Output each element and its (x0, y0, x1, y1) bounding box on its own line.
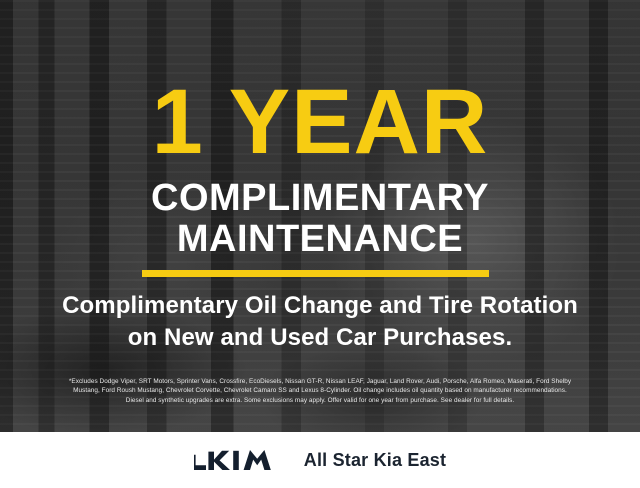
offer-description: Complimentary Oil Change and Tire Rotati… (0, 290, 640, 354)
offer-line-2: on New and Used Car Purchases. (0, 322, 640, 354)
dealer-name: All Star Kia East (304, 450, 446, 471)
disclaimer-line-3: Diesel and synthetic upgrades are extra.… (12, 396, 628, 405)
kia-logo (194, 449, 282, 471)
yellow-divider-bar (142, 270, 489, 277)
legal-disclaimer: *Excludes Dodge Viper, SRT Motors, Sprin… (12, 377, 628, 405)
headline-line-complimentary: COMPLIMENTARY (0, 178, 640, 219)
offer-line-1: Complimentary Oil Change and Tire Rotati… (0, 290, 640, 322)
disclaimer-line-2: Mustang, Ford Roush Mustang, Chevrolet C… (12, 386, 628, 395)
headline-line-maintenance: MAINTENANCE (0, 219, 640, 260)
dealer-footer-bar: All Star Kia East (0, 432, 640, 488)
disclaimer-line-1: *Excludes Dodge Viper, SRT Motors, Sprin… (12, 377, 628, 386)
headline-complimentary-maintenance: COMPLIMENTARY MAINTENANCE (0, 178, 640, 259)
banner-copy: 1 YEAR COMPLIMENTARY MAINTENANCE Complim… (0, 0, 640, 488)
promotional-banner: 1 YEAR COMPLIMENTARY MAINTENANCE Complim… (0, 0, 640, 488)
headline-one-year: 1 YEAR (0, 76, 640, 168)
